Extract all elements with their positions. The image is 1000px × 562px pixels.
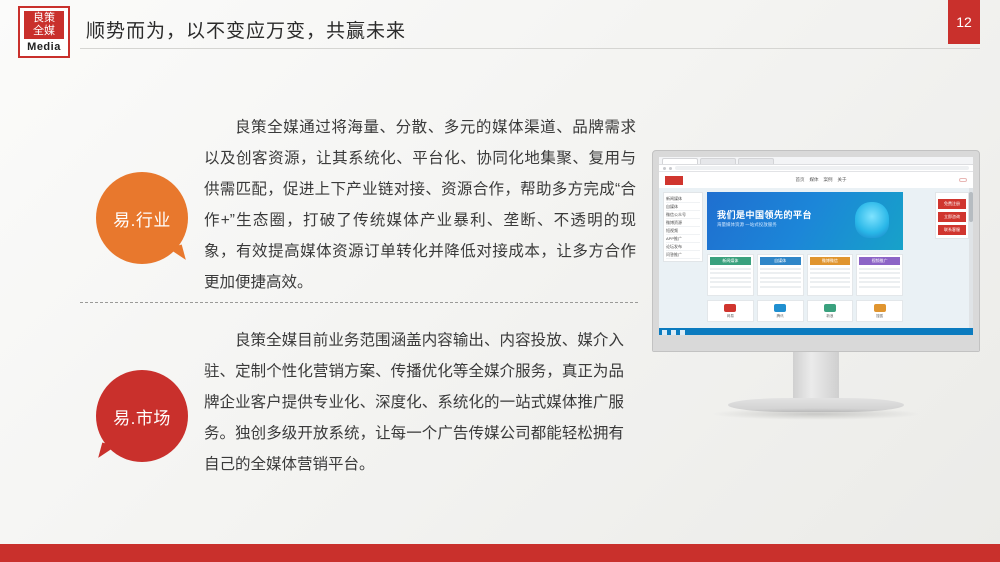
monitor-shadow	[711, 408, 921, 420]
hero-title: 我们是中国领先的平台	[717, 208, 812, 221]
partner-logo-icon	[774, 304, 786, 312]
browser-tab-inactive-2[interactable]	[738, 158, 774, 164]
header-divider	[80, 48, 980, 49]
partner-label: 腾讯	[777, 314, 784, 319]
partner-logo-icon	[824, 304, 836, 312]
section-divider	[80, 302, 638, 303]
category-card[interactable]: 视频推广	[856, 254, 903, 296]
card-line	[710, 268, 751, 270]
page-title: 顺势而为，以不变应万变，共赢未来	[86, 16, 406, 43]
partner-logo-icon	[874, 304, 886, 312]
partner-tile[interactable]: 腾讯	[757, 300, 804, 322]
site-logo-mark	[665, 176, 683, 185]
forward-icon[interactable]	[669, 167, 672, 170]
browser-tab-inactive-1[interactable]	[700, 158, 736, 164]
slide: 良策 全媒 Media 顺势而为，以不变应万变，共赢未来 12 易.行业 良策全…	[0, 0, 1000, 562]
browser-tabstrip	[659, 157, 973, 165]
site-sidebar-right: 免费注册 立即咨询 联系客服	[935, 192, 969, 239]
contact-button[interactable]: 联系客服	[938, 225, 966, 235]
card-line	[760, 272, 801, 274]
card-line	[859, 286, 900, 288]
card-line	[859, 268, 900, 270]
site-phone	[959, 178, 967, 182]
category-card-title: 自媒体	[760, 257, 801, 265]
browser-urlbar[interactable]	[659, 165, 973, 172]
category-card-title: 微博微信	[810, 257, 851, 265]
consult-button[interactable]: 立即咨询	[938, 212, 966, 222]
site-nav[interactable]: 首页 媒体 案例 关于	[796, 177, 847, 183]
partner-tile[interactable]: 新浪	[807, 300, 854, 322]
scrollbar-thumb[interactable]	[969, 192, 973, 222]
card-line	[810, 268, 851, 270]
card-line	[710, 277, 751, 279]
logo-badge-line2: 全媒	[24, 25, 64, 38]
sidebar-item[interactable]: 问答推广	[666, 251, 700, 259]
sidebar-item[interactable]: 论坛发布	[666, 243, 700, 251]
bubble-tail-icon	[98, 442, 116, 461]
site-body: 新闻媒体 自媒体 微信公众号 微博资源 短视频 APP推广 论坛发布 问答推广 …	[659, 188, 973, 337]
site-logo[interactable]	[665, 176, 683, 185]
site-hero-banner: 我们是中国领先的平台 海量媒体资源 一站式投放服务	[707, 192, 903, 250]
url-input[interactable]	[675, 166, 969, 170]
slide-header: 良策 全媒 Media 顺势而为，以不变应万变，共赢未来 12	[0, 0, 1000, 62]
monitor-chin	[653, 335, 979, 351]
site-nav-item-2[interactable]: 媒体	[810, 177, 819, 183]
hero-subtitle: 海量媒体资源 一站式投放服务	[717, 222, 777, 228]
card-line	[810, 272, 851, 274]
card-line	[810, 277, 851, 279]
monitor-illustration: 首页 媒体 案例 关于 新闻媒体 自媒体 微信公众号 微博资源 短视频 APP	[652, 150, 980, 352]
back-icon[interactable]	[663, 167, 666, 170]
sidebar-item[interactable]: 自媒体	[666, 203, 700, 211]
page-number-badge: 12	[948, 0, 980, 44]
paragraph-industry: 良策全媒通过将海量、分散、多元的媒体渠道、品牌需求以及创客资源，让其系统化、平台…	[204, 112, 636, 298]
site-partner-grid: 网易 腾讯 新浪 搜狐	[707, 300, 903, 322]
site-category-cards: 新闻媒体 自媒体	[707, 254, 903, 296]
site-nav-item-1[interactable]: 首页	[796, 177, 805, 183]
card-line	[760, 286, 801, 288]
partner-tile[interactable]: 网易	[707, 300, 754, 322]
site-nav-item-3[interactable]: 案例	[824, 177, 833, 183]
partner-label: 网易	[727, 314, 734, 319]
card-line	[710, 281, 751, 283]
category-card-title: 新闻媒体	[710, 257, 751, 265]
monitor-screen: 首页 媒体 案例 关于 新闻媒体 自媒体 微信公众号 微博资源 短视频 APP	[659, 157, 973, 337]
site-sidebar-left[interactable]: 新闻媒体 自媒体 微信公众号 微博资源 短视频 APP推广 论坛发布 问答推广	[663, 192, 703, 262]
bullet-market: 易.市场	[96, 370, 188, 462]
partner-logo-icon	[724, 304, 736, 312]
register-button[interactable]: 免费注册	[938, 199, 966, 209]
browser-tab-active[interactable]	[662, 158, 698, 164]
card-line	[760, 268, 801, 270]
category-card[interactable]: 自媒体	[757, 254, 804, 296]
logo-wordmark: Media	[27, 41, 61, 53]
logo-badge: 良策 全媒	[24, 11, 64, 39]
footer-bar	[0, 544, 1000, 562]
card-line	[710, 286, 751, 288]
card-line	[710, 272, 751, 274]
monitor-frame: 首页 媒体 案例 关于 新闻媒体 自媒体 微信公众号 微博资源 短视频 APP	[652, 150, 980, 352]
sidebar-item[interactable]: 微博资源	[666, 219, 700, 227]
card-line	[760, 281, 801, 283]
card-line	[859, 281, 900, 283]
partner-tile[interactable]: 搜狐	[856, 300, 903, 322]
category-card-title: 视频推广	[859, 257, 900, 265]
bullet-industry-label: 易.行业	[113, 206, 171, 231]
card-line	[760, 277, 801, 279]
partner-label: 搜狐	[876, 314, 883, 319]
logo-badge-line1: 良策	[24, 12, 64, 25]
bullet-market-label: 易.市场	[113, 404, 171, 429]
partner-label: 新浪	[826, 314, 833, 319]
company-logo: 良策 全媒 Media	[18, 6, 70, 58]
category-card[interactable]: 新闻媒体	[707, 254, 754, 296]
sidebar-item[interactable]: 短视频	[666, 227, 700, 235]
sidebar-item[interactable]: APP推广	[666, 235, 700, 243]
category-card[interactable]: 微博微信	[807, 254, 854, 296]
card-line	[859, 277, 900, 279]
bullet-industry: 易.行业	[96, 172, 188, 264]
card-line	[859, 272, 900, 274]
card-line	[810, 286, 851, 288]
sidebar-item[interactable]: 新闻媒体	[666, 195, 700, 203]
site-nav-item-4[interactable]: 关于	[838, 177, 847, 183]
site-header: 首页 媒体 案例 关于	[659, 172, 973, 188]
monitor-stand-neck	[793, 352, 839, 400]
bubble-tail-icon	[168, 244, 186, 263]
hero-illustration-icon	[855, 202, 889, 238]
page-scrollbar[interactable]	[969, 188, 973, 337]
sidebar-item[interactable]: 微信公众号	[666, 211, 700, 219]
card-line	[810, 281, 851, 283]
paragraph-market: 良策全媒目前业务范围涵盖内容输出、内容投放、媒介入驻、定制个性化营销方案、传播优…	[204, 325, 624, 480]
